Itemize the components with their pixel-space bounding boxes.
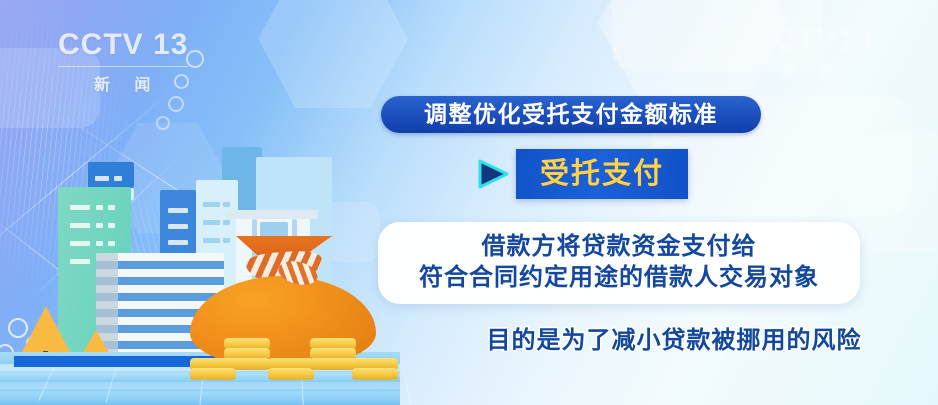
description-card: 借款方将贷款资金支付给 符合合同约定用途的借款人交易对象 (378, 222, 860, 304)
footnote-row: 目的是为了减小贷款被挪用的风险 (0, 320, 938, 355)
keyword-text: 受托支付 (540, 160, 664, 189)
description-line-2: 符合合同约定用途的借款人交易对象 (419, 265, 819, 292)
keyword-row: 受托支付 (476, 149, 688, 199)
cctv-watermark-right-subtext: 新 闻 (752, 61, 873, 82)
graphic-title-text: 调整优化受托支付金额标准 (424, 103, 718, 126)
cctv-watermark-right: CCTV13 新 闻 (752, 24, 873, 82)
building-roof (228, 210, 318, 219)
description-line-1: 借款方将贷款资金支付给 (482, 234, 757, 261)
graphic-title-banner: 调整优化受托支付金额标准 (381, 96, 761, 133)
building-icon (88, 162, 134, 188)
keyword-badge: 受托支付 (516, 149, 688, 199)
news-graphic-frame: CCTV 13 新 闻 CCTV13 新 闻 (0, 0, 938, 405)
play-arrow-icon (476, 157, 510, 191)
cctv-watermark-right-text: CCTV13 (752, 24, 873, 57)
footnote-text: 目的是为了减小贷款被挪用的风险 (487, 320, 862, 355)
